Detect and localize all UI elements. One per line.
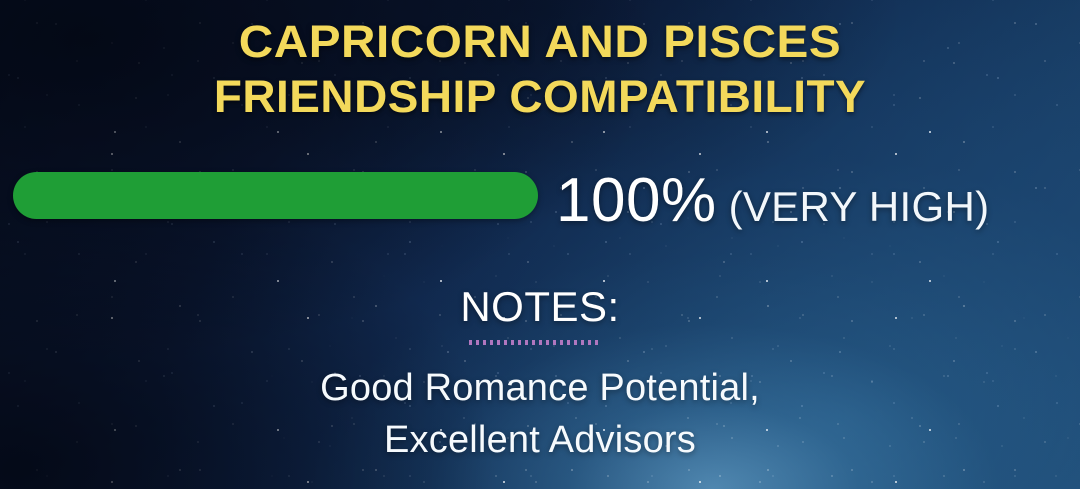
score-text-group: 100% (VERY HIGH) — [556, 165, 989, 227]
notes-underline-decoration — [469, 340, 598, 345]
progress-bar-fill — [13, 172, 538, 219]
notes-line-2: Excellent Advisors — [0, 414, 1080, 466]
score-percent: 100% — [556, 165, 717, 236]
title-line-1: CAPRICORN AND PISCES — [0, 14, 1080, 69]
page-title: CAPRICORN AND PISCES FRIENDSHIP COMPATIB… — [0, 14, 1080, 124]
score-rating-label: (VERY HIGH) — [729, 183, 990, 231]
title-line-2: FRIENDSHIP COMPATIBILITY — [0, 69, 1080, 124]
notes-heading-block: NOTES: — [0, 283, 1080, 331]
notes-line-1: Good Romance Potential, — [0, 362, 1080, 414]
card-content: CAPRICORN AND PISCES FRIENDSHIP COMPATIB… — [0, 0, 1080, 489]
notes-body: Good Romance Potential, Excellent Adviso… — [0, 362, 1080, 466]
compatibility-score-row: 100% (VERY HIGH) — [0, 165, 1080, 227]
compatibility-progress-bar — [13, 172, 538, 219]
compatibility-card: CAPRICORN AND PISCES FRIENDSHIP COMPATIB… — [0, 0, 1080, 489]
notes-heading: NOTES: — [460, 283, 619, 331]
